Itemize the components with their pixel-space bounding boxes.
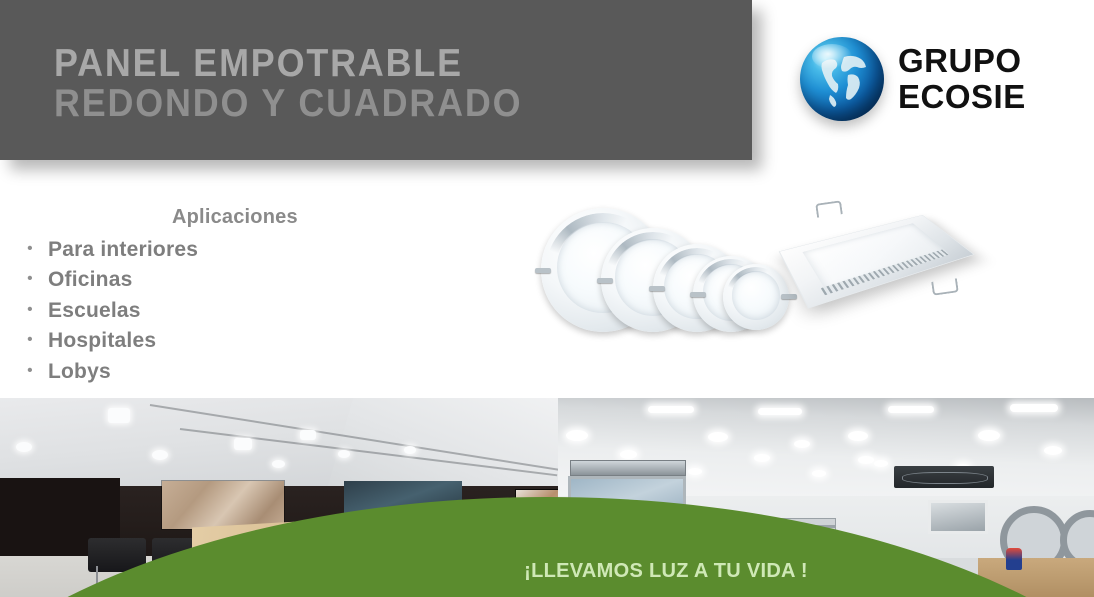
applications-list: • Para interiores • Oficinas • Escuelas …: [12, 235, 298, 387]
list-item-label: Escuelas: [48, 296, 141, 326]
page-title-line1: PANEL EMPOTRABLE: [54, 42, 463, 86]
brand-name: GRUPO ECOSIE: [898, 43, 1026, 114]
list-item: • Para interiores: [12, 235, 298, 265]
list-item-label: Hospitales: [48, 326, 156, 356]
globe-icon: [800, 37, 884, 121]
list-item-label: Oficinas: [48, 265, 132, 295]
applications-heading: Aplicaciones: [172, 206, 298, 229]
brand-line-1: GRUPO: [898, 43, 1026, 79]
square-panel-body: [779, 215, 975, 309]
wall-display: [928, 500, 988, 534]
page-title-line2: REDONDO Y CUADRADO: [54, 82, 522, 126]
bullet-icon: •: [12, 360, 48, 382]
brand-logo: GRUPO ECOSIE: [800, 24, 1080, 134]
bullet-icon: •: [12, 329, 48, 351]
list-item: • Oficinas: [12, 265, 298, 295]
list-item: • Escuelas: [12, 296, 298, 326]
bullet-icon: •: [12, 238, 48, 260]
brand-line-2: ECOSIE: [898, 79, 1026, 115]
list-item-label: Lobys: [48, 357, 111, 387]
list-item: • Lobys: [12, 357, 298, 387]
list-item: • Hospitales: [12, 326, 298, 356]
applications-block: Aplicaciones • Para interiores • Oficina…: [12, 206, 298, 387]
wall-art: [162, 481, 284, 529]
square-led-panel: [780, 196, 990, 316]
bullet-icon: •: [12, 299, 48, 321]
person-figure: [1006, 548, 1022, 570]
round-led-downlight-panels: [535, 198, 785, 343]
bullet-icon: •: [12, 268, 48, 290]
title-banner: PANEL EMPOTRABLE REDONDO Y CUADRADO: [0, 0, 752, 160]
list-item-label: Para interiores: [48, 235, 198, 265]
slide-canvas: PANEL EMPOTRABLE REDONDO Y CUADRADO GRUP…: [0, 0, 1094, 597]
